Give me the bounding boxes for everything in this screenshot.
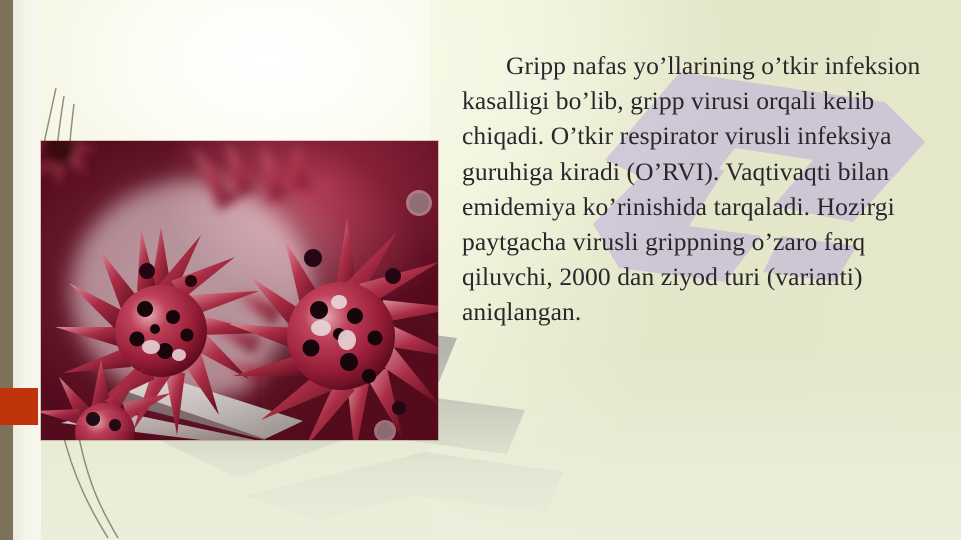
presentation-slide: Gripp nafas yo’llarining o’tkir infeksio… (0, 0, 961, 540)
left-edge-cream-stripe (13, 0, 41, 540)
virus-illustration-image (41, 141, 438, 440)
virus-illustration-canvas (41, 141, 438, 440)
left-edge-stripe (0, 0, 13, 540)
slide-body-text: Gripp nafas yo’llarining o’tkir infeksio… (462, 48, 922, 330)
accent-bar (0, 388, 38, 425)
